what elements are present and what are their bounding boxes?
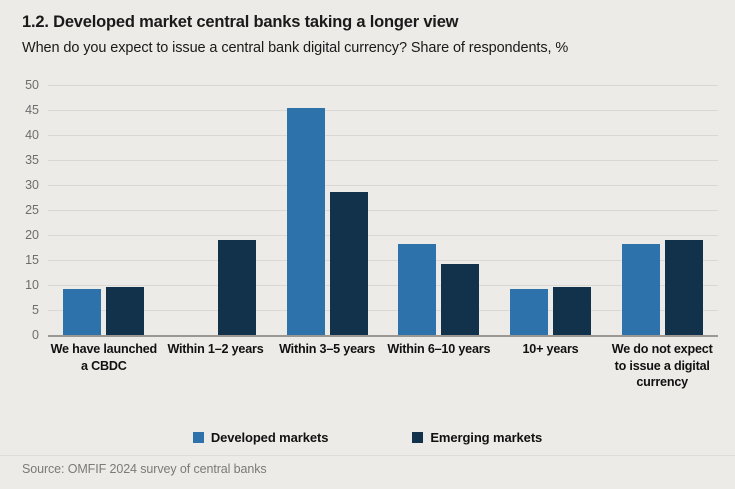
- bar-group: [606, 85, 718, 335]
- legend-item[interactable]: Developed markets: [193, 430, 329, 445]
- y-axis-tick-label: 45: [25, 103, 39, 117]
- bar-group: [383, 85, 495, 335]
- bar: [398, 244, 436, 335]
- bar: [665, 240, 703, 335]
- x-axis-tick-label: We have launched a CBDC: [48, 341, 160, 374]
- y-axis-tick-label: 20: [25, 228, 39, 242]
- x-axis-tick-label: We do not expect to issue a digital curr…: [606, 341, 718, 391]
- y-axis-tick-label: 5: [32, 303, 39, 317]
- y-axis-tick-label: 25: [25, 203, 39, 217]
- legend-label: Developed markets: [211, 430, 329, 445]
- y-axis-tick-label: 15: [25, 253, 39, 267]
- x-axis-tick-label: Within 6–10 years: [383, 341, 495, 358]
- x-axis-tick-label: Within 1–2 years: [160, 341, 272, 358]
- bar: [622, 244, 660, 335]
- bar-group: [271, 85, 383, 335]
- bar: [63, 289, 101, 336]
- bar: [218, 240, 256, 335]
- y-axis-tick-label: 0: [32, 328, 39, 342]
- bar: [553, 287, 591, 336]
- y-axis-tick-label: 10: [25, 278, 39, 292]
- y-axis-tick-label: 50: [25, 78, 39, 92]
- bar: [441, 264, 479, 335]
- legend-swatch-icon: [193, 432, 204, 443]
- bar-group: [495, 85, 607, 335]
- chart-figure: 1.2. Developed market central banks taki…: [0, 0, 735, 489]
- bar: [510, 289, 548, 336]
- bars-layer: [48, 85, 718, 335]
- legend-item[interactable]: Emerging markets: [412, 430, 542, 445]
- legend-label: Emerging markets: [430, 430, 542, 445]
- bar: [330, 192, 368, 335]
- legend-swatch-icon: [412, 432, 423, 443]
- bar: [287, 108, 325, 336]
- x-axis-tick-label: 10+ years: [495, 341, 607, 358]
- bar: [106, 287, 144, 336]
- bar-group: [160, 85, 272, 335]
- source-note: Source: OMFIF 2024 survey of central ban…: [22, 462, 267, 476]
- x-axis-labels: We have launched a CBDCWithin 1–2 yearsW…: [48, 341, 718, 421]
- x-axis-line: [48, 335, 718, 337]
- plot-wrapper: 05101520253035404550 We have launched a …: [0, 0, 735, 489]
- chart-legend: Developed marketsEmerging markets: [0, 430, 735, 445]
- y-axis-tick-label: 40: [25, 128, 39, 142]
- x-axis-tick-label: Within 3–5 years: [271, 341, 383, 358]
- y-axis-tick-label: 30: [25, 178, 39, 192]
- y-axis-tick-label: 35: [25, 153, 39, 167]
- bar-group: [48, 85, 160, 335]
- footer-divider: [0, 455, 735, 456]
